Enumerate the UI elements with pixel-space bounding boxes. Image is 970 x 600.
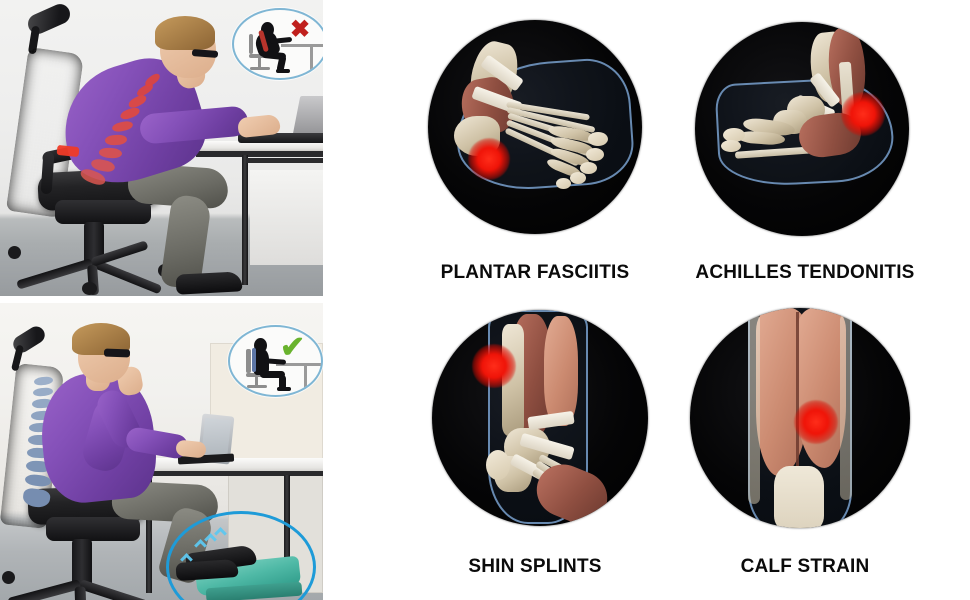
inset-person-foot <box>276 69 290 73</box>
desk-panel <box>250 170 323 265</box>
condition-label-calf-strain: CALF STRAIN <box>670 556 940 578</box>
toe-bone <box>586 148 604 161</box>
person-hand <box>175 439 207 458</box>
plantar-fasciitis-image <box>428 20 642 234</box>
desk-edge <box>196 151 323 157</box>
chair-base-leg <box>75 586 87 600</box>
inset-chair-base <box>247 385 267 388</box>
desk-cross-beam <box>246 158 323 163</box>
condition-calf-strain: CALF STRAIN <box>670 300 940 596</box>
chair-caster <box>82 282 97 295</box>
chair-caster <box>8 246 21 259</box>
spine-overlay-bad <box>66 74 176 184</box>
inset-desk <box>281 44 323 47</box>
calf-strain-image <box>690 308 910 528</box>
person-glasses <box>104 349 130 358</box>
inset-chair-back <box>249 34 253 54</box>
condition-label-shin-splints: SHIN SPLINTS <box>400 556 670 578</box>
calf-fascia-strip <box>748 314 760 504</box>
toe-bone <box>570 172 586 184</box>
desk-leg-front <box>242 155 248 285</box>
good-posture-inset: ✔ <box>228 325 323 397</box>
malleolus-bone <box>486 450 510 480</box>
inset-person-foot <box>277 387 291 391</box>
infographic-page: ✖ <box>0 0 970 600</box>
inset-spine-highlight <box>252 348 256 372</box>
condition-achilles-tendonitis: ACHILLES TENDONITIS <box>670 0 940 296</box>
peroneal-muscle <box>544 316 578 426</box>
chair-mechanism <box>55 200 151 224</box>
inset-chair-back <box>246 349 251 373</box>
condition-shin-splints: SHIN SPLINTS <box>400 300 670 596</box>
calf-fascia-strip <box>840 314 852 500</box>
inset-chair-base <box>250 67 270 70</box>
chair-caster <box>2 571 15 584</box>
toe-bone <box>588 132 608 146</box>
person-hair <box>155 16 215 50</box>
bad-posture-photo: ✖ <box>0 0 323 296</box>
spine-pain-marker <box>57 145 80 157</box>
condition-plantar-fasciitis: PLANTAR FASCIITIS <box>400 0 670 296</box>
shin-splints-image <box>432 310 648 526</box>
gastrocnemius-lateral-head <box>796 308 846 468</box>
toe-bone <box>556 178 571 189</box>
toe-bone <box>721 140 741 152</box>
calf-muscle-raphe <box>796 312 799 474</box>
check-icon: ✔ <box>280 333 305 363</box>
sitting-posture-comparison: ✖ <box>0 0 323 600</box>
pain-marker-achilles-tendonitis <box>841 92 885 136</box>
cross-icon: ✖ <box>290 18 310 42</box>
condition-label-plantar-fasciitis: PLANTAR FASCIITIS <box>400 262 670 284</box>
inset-desk-leg <box>310 46 313 71</box>
pain-marker-shin-splints <box>472 344 516 388</box>
achilles-tendonitis-image <box>695 22 909 236</box>
foot-and-leg-conditions: PLANTAR FASCIITIS <box>400 0 970 600</box>
bad-posture-inset: ✖ <box>232 8 323 80</box>
pain-marker-plantar-fasciitis <box>468 138 510 180</box>
good-posture-photo: ✔ <box>0 303 323 600</box>
pain-marker-calf-strain <box>794 400 838 444</box>
person-shoe <box>176 271 243 294</box>
condition-label-achilles-tendonitis: ACHILLES TENDONITIS <box>670 262 940 284</box>
inset-desk-leg <box>304 365 307 389</box>
achilles-tendon <box>774 466 824 528</box>
